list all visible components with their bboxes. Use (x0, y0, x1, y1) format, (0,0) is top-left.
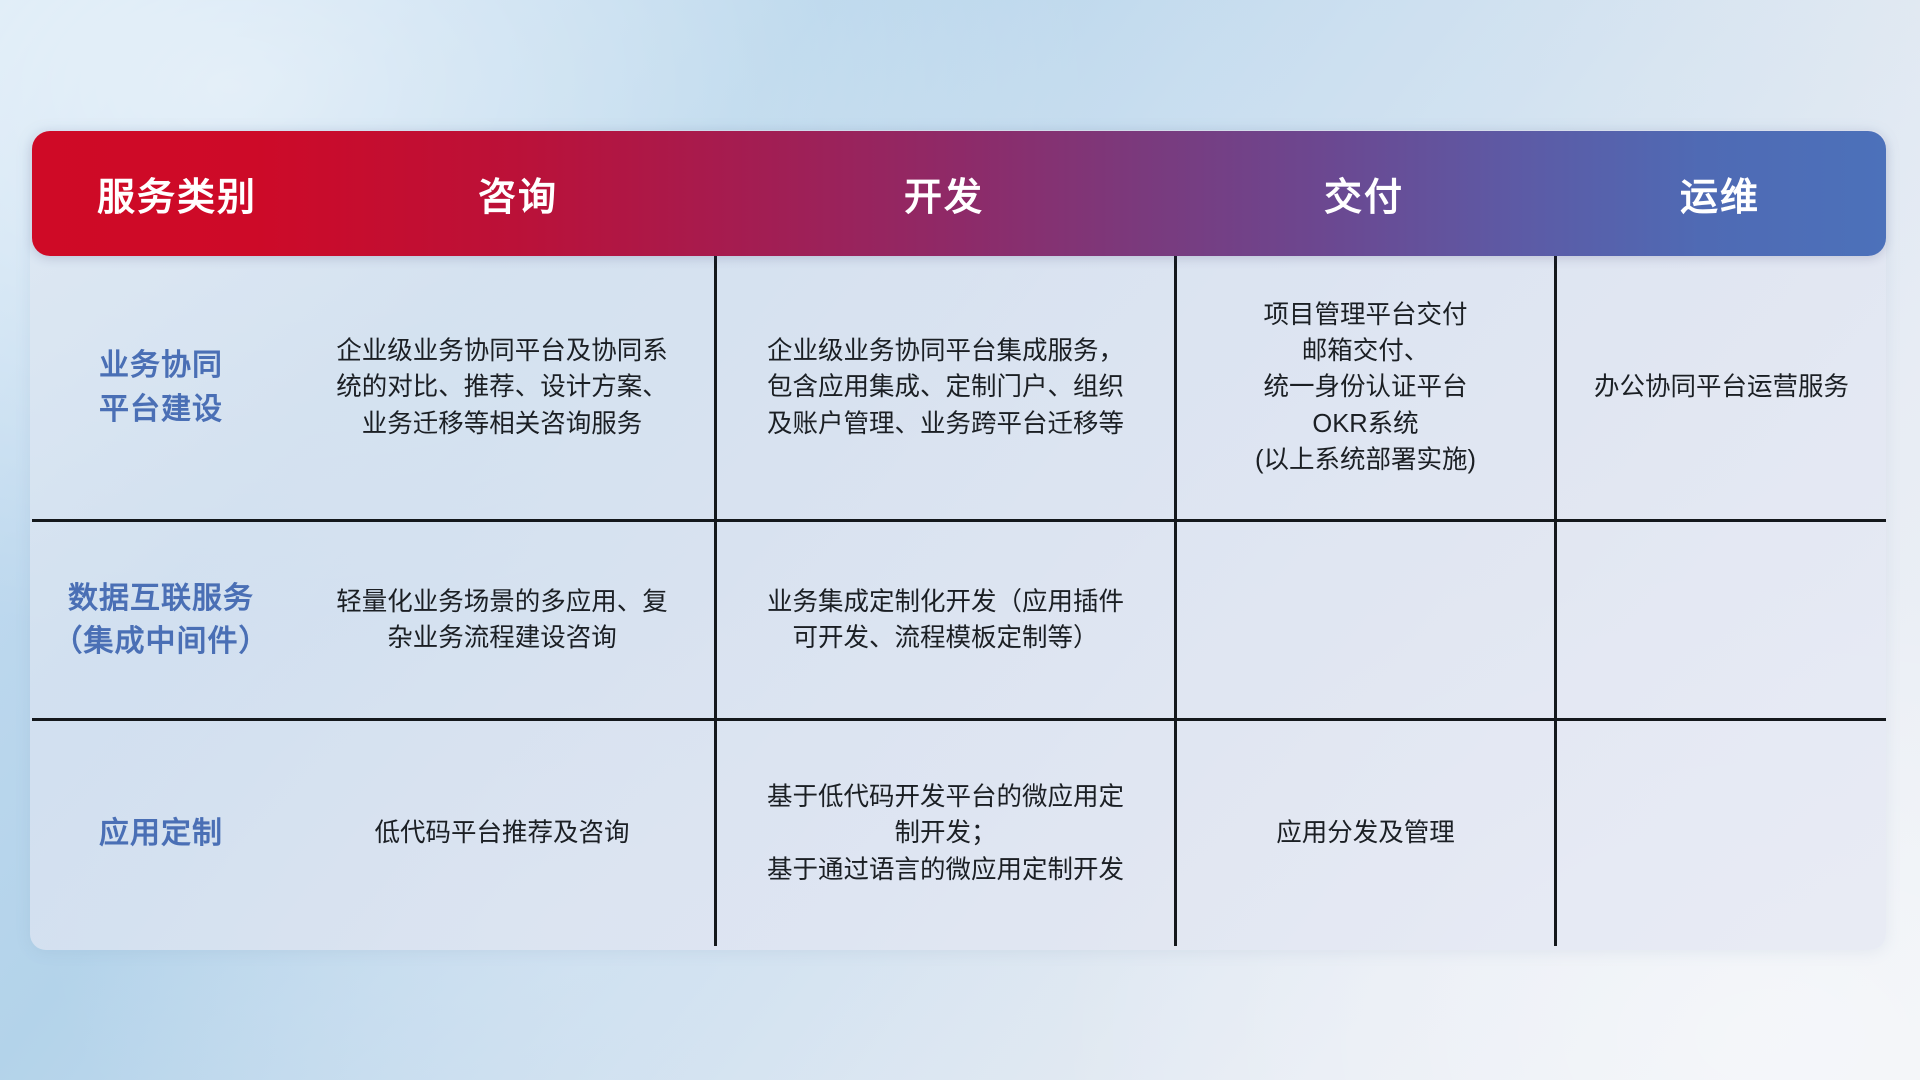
table-row-3-consult: 低代码平台推荐及咨询 (290, 721, 714, 946)
table-row-3-deliver: 应用分发及管理 (1177, 721, 1554, 946)
table-row-2-ops (1557, 522, 1886, 718)
table-row-3-category: 应用定制 (32, 721, 290, 946)
table-row-2-deliver (1177, 522, 1554, 718)
table-header-row: 服务类别 咨询 开发 交付 运维 (32, 131, 1886, 256)
table-row-1-develop: 企业级业务协同平台集成服务， 包含应用集成、定制门户、组织 及账户管理、业务跨平… (717, 256, 1174, 519)
table-row-1-consult: 企业级业务协同平台及协同系 统的对比、推荐、设计方案、 业务迁移等相关咨询服务 (290, 256, 714, 519)
table-row-1-category: 业务协同 平台建设 (32, 256, 290, 519)
table-row-3-develop: 基于低代码开发平台的微应用定 制开发； 基于通过语言的微应用定制开发 (717, 721, 1174, 946)
table-row-1-ops: 办公协同平台运营服务 (1557, 256, 1886, 519)
table-row-2-consult: 轻量化业务场景的多应用、复 杂业务流程建设咨询 (290, 522, 714, 718)
table-row-2-develop: 业务集成定制化开发（应用插件 可开发、流程模板定制等） (717, 522, 1174, 718)
column-header-consult[interactable]: 咨询 (322, 131, 714, 256)
column-header-develop[interactable]: 开发 (714, 131, 1174, 256)
table-row-1-deliver: 项目管理平台交付 邮箱交付、 统一身份认证平台 OKR系统 (以上系统部署实施) (1177, 256, 1554, 519)
page-background: 服务类别 咨询 开发 交付 运维 业务协同 平台建设 企业级业务协同平台及协同系… (0, 0, 1920, 1080)
column-header-deliver[interactable]: 交付 (1174, 131, 1554, 256)
column-header-category[interactable]: 服务类别 (32, 131, 322, 256)
table-row-3-ops (1557, 721, 1886, 946)
column-header-ops[interactable]: 运维 (1554, 131, 1886, 256)
table-row-2-category: 数据互联服务 （集成中间件） (32, 522, 290, 718)
